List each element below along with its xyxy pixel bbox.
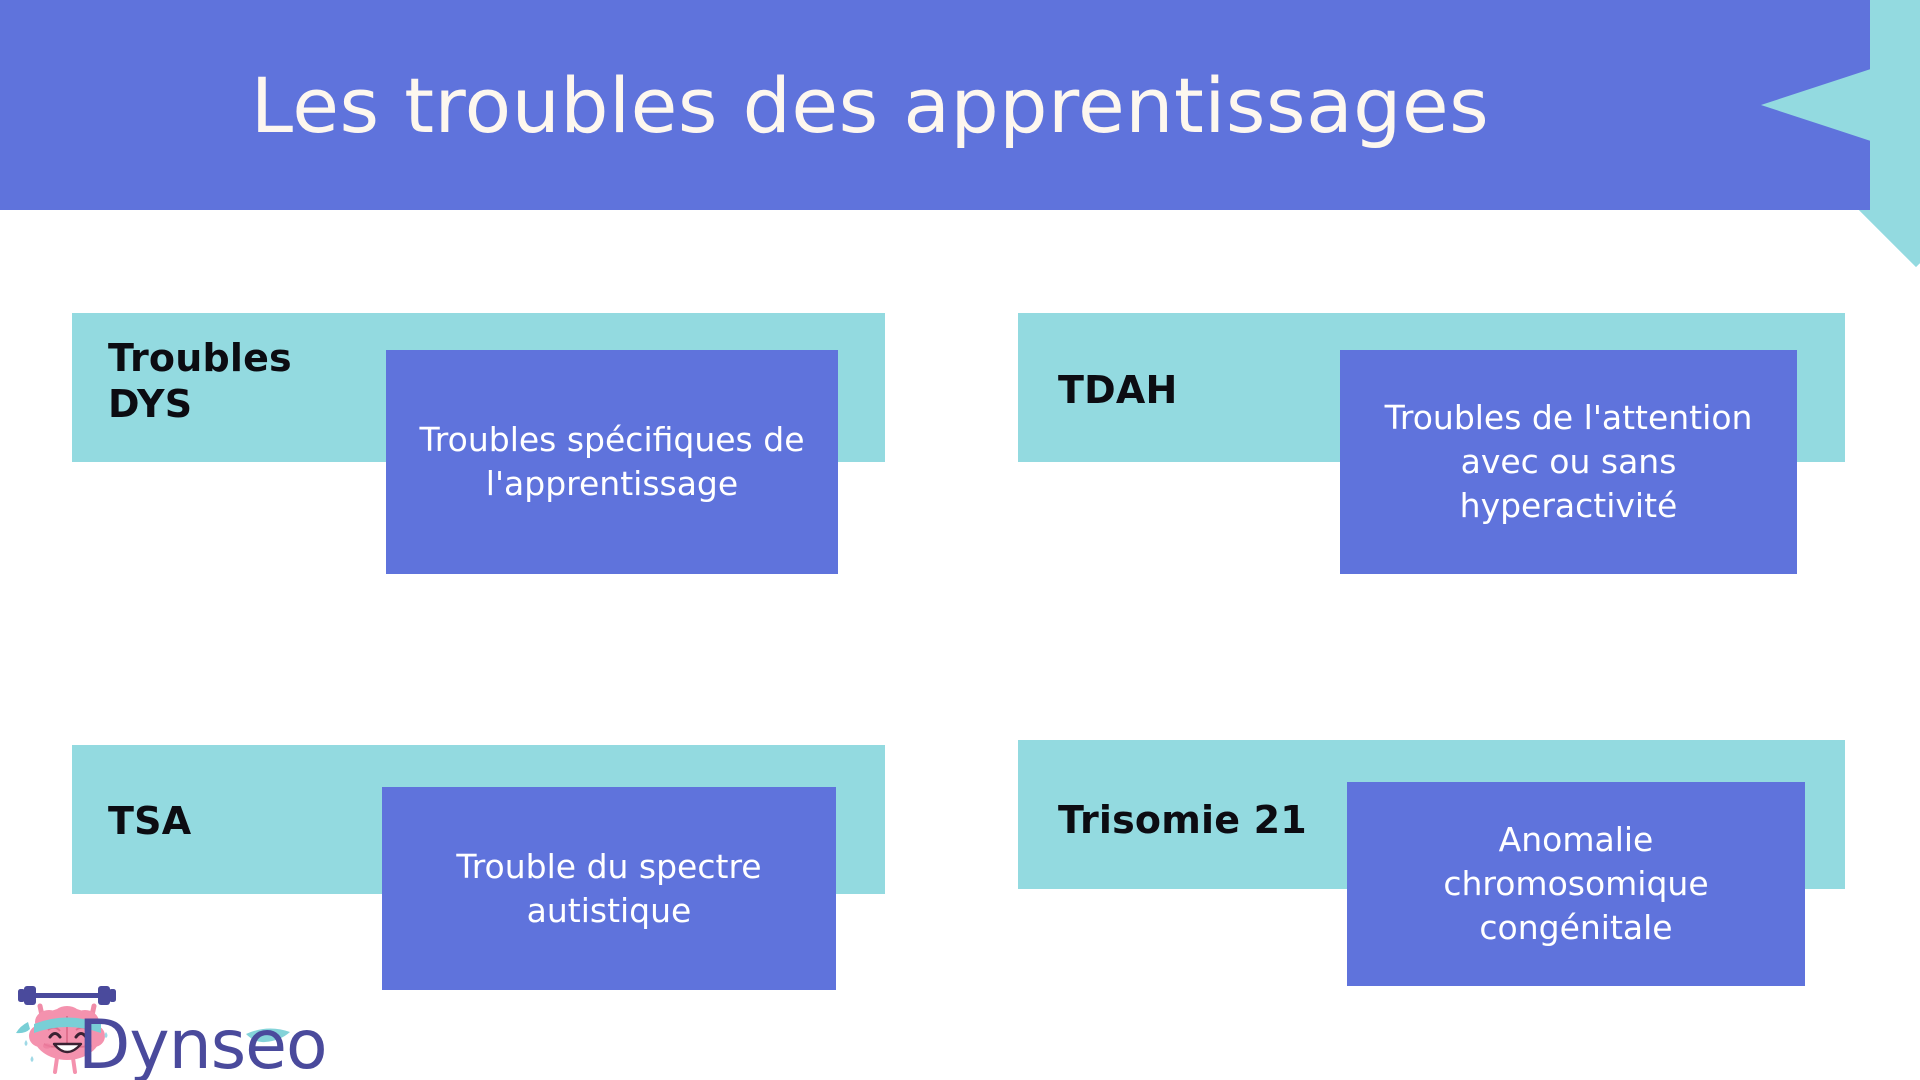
- card-label: Trisomie 21: [1058, 797, 1307, 843]
- logo-wordmark: Dynseo: [78, 1006, 327, 1080]
- card-description-box: Anomalie chromosomique congénitale: [1347, 782, 1805, 986]
- card-trisomie-21: Trisomie 21 Anomalie chromosomique congé…: [0, 0, 1920, 1080]
- slide-canvas: Les troubles des apprentissages Troubles…: [0, 0, 1920, 1080]
- barbell-icon: [18, 986, 116, 1005]
- dynseo-logo: Dynseo: [10, 980, 330, 1080]
